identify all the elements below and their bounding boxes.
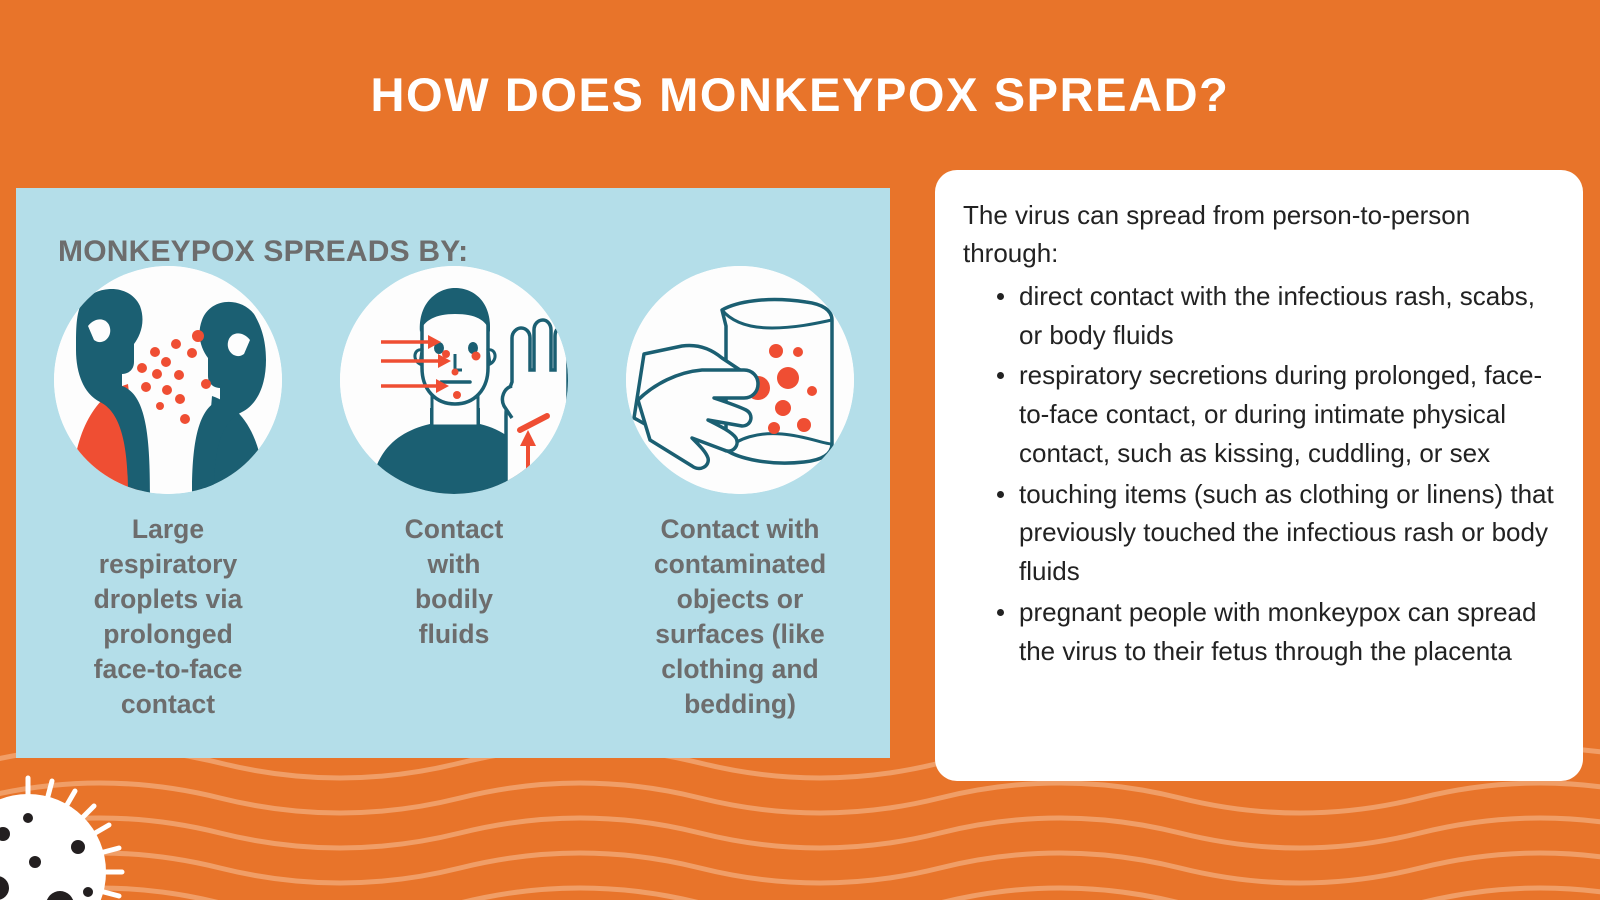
- infographic-page: HOW DOES MONKEYPOX SPREAD? MONKEYPOX SPR…: [0, 0, 1600, 900]
- spread-card-caption: Large respiratory droplets via prolonged…: [63, 512, 273, 722]
- transmission-intro: The virus can spread from person-to-pers…: [959, 196, 1563, 273]
- list-item: direct contact with the infectious rash,…: [1019, 277, 1563, 354]
- spread-card-bodily-fluids: Contact with bodily fluids: [320, 266, 588, 722]
- list-item: touching items (such as clothing or line…: [1019, 475, 1563, 591]
- list-item: pregnant people with monkeypox can sprea…: [1019, 593, 1563, 670]
- spread-card-caption: Contact with bodily fluids: [349, 512, 559, 652]
- monkeypox-spreads-by-panel: MONKEYPOX SPREADS BY:: [16, 188, 890, 758]
- transmission-bullet-list: direct contact with the infectious rash,…: [959, 277, 1563, 670]
- page-title: HOW DOES MONKEYPOX SPREAD?: [0, 69, 1600, 121]
- transmission-details-card: The virus can spread from person-to-pers…: [935, 170, 1583, 781]
- hands-folding-contaminated-cloth-icon: [626, 266, 854, 494]
- two-people-talking-droplets-icon: [54, 266, 282, 494]
- spread-card-contaminated-objects: Contact with contaminated objects or sur…: [606, 266, 874, 722]
- spread-method-cards: Large respiratory droplets via prolonged…: [34, 266, 874, 722]
- spread-card-respiratory-droplets: Large respiratory droplets via prolonged…: [34, 266, 302, 722]
- spread-card-caption: Contact with contaminated objects or sur…: [606, 512, 874, 722]
- list-item: respiratory secretions during prolonged,…: [1019, 356, 1563, 472]
- panel-heading: MONKEYPOX SPREADS BY:: [58, 235, 468, 269]
- face-and-hand-bodily-fluids-icon: [340, 266, 568, 494]
- virus-particle-icon: [0, 772, 128, 900]
